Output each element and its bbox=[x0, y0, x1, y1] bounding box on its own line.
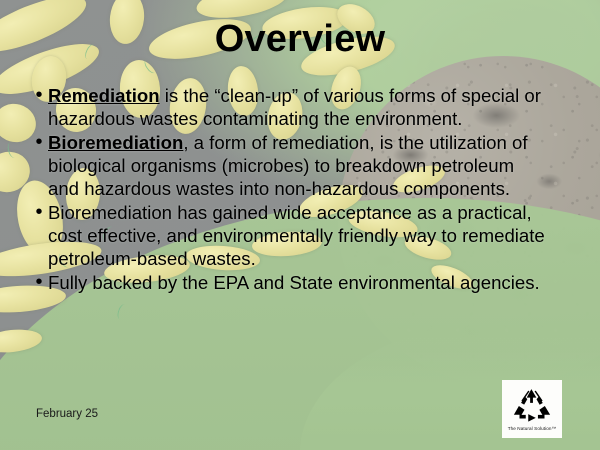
recycle-icon bbox=[512, 387, 552, 425]
bullet-item: • Remediation is the “clean-up” of vario… bbox=[30, 84, 550, 130]
company-logo: The Natural Solution™ bbox=[502, 380, 562, 438]
bullet-marker: • bbox=[30, 271, 48, 294]
bullet-item: • Fully backed by the EPA and State envi… bbox=[30, 271, 550, 294]
bullet-marker: • bbox=[30, 84, 48, 107]
bullet-marker: • bbox=[30, 201, 48, 224]
bullet-item: • Bioremediation, a form of remediation,… bbox=[30, 131, 550, 200]
logo-caption: The Natural Solution™ bbox=[508, 426, 557, 431]
bullet-text: Bioremediation, a form of remediation, i… bbox=[48, 131, 550, 200]
bullet-marker: • bbox=[30, 131, 48, 154]
slide-title: Overview bbox=[0, 18, 600, 61]
bullet-keyword: Bioremediation bbox=[48, 132, 183, 153]
slide-body: • Remediation is the “clean-up” of vario… bbox=[30, 84, 550, 295]
presentation-slide: Overview • Remediation is the “clean-up”… bbox=[0, 0, 600, 450]
bullet-text: Bioremediation has gained wide acceptanc… bbox=[48, 201, 550, 270]
bullet-item: • Bioremediation has gained wide accepta… bbox=[30, 201, 550, 270]
bullet-keyword: Remediation bbox=[48, 85, 160, 106]
bullet-text: Fully backed by the EPA and State enviro… bbox=[48, 271, 540, 294]
bullet-body: Bioremediation has gained wide acceptanc… bbox=[48, 202, 545, 269]
bullet-body: Fully backed by the EPA and State enviro… bbox=[48, 272, 540, 293]
slide-date: February 25 bbox=[36, 408, 98, 420]
bullet-text: Remediation is the “clean-up” of various… bbox=[48, 84, 550, 130]
